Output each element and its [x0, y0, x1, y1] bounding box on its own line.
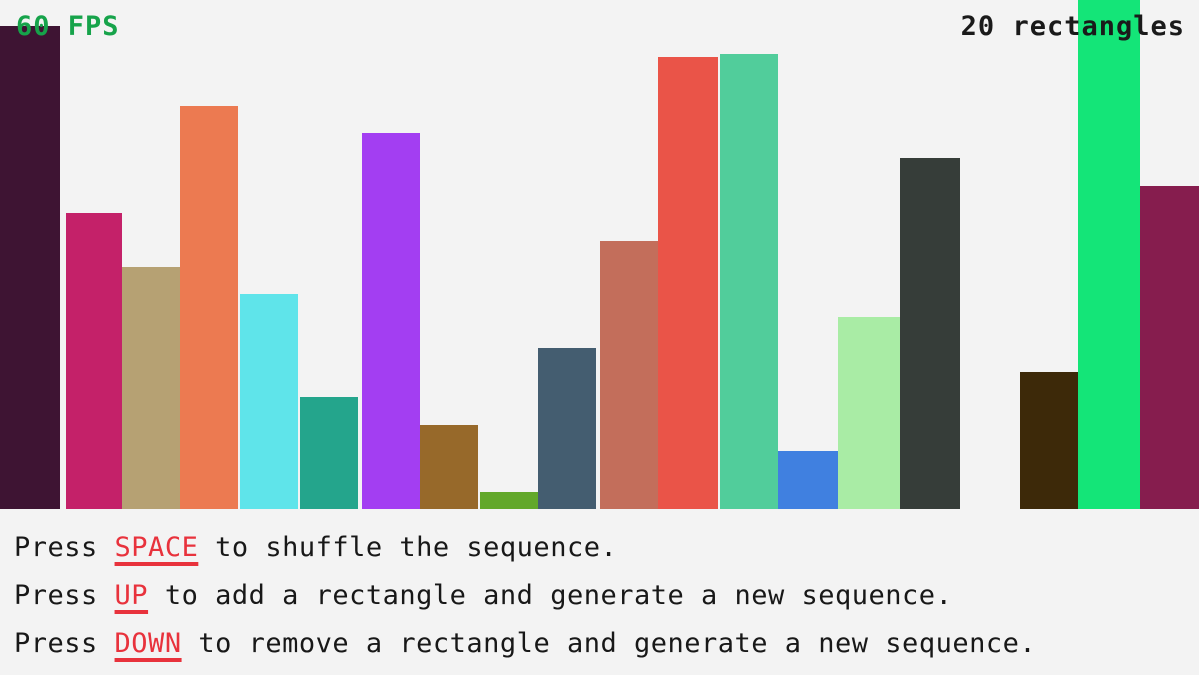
bar-rectangle: [1078, 0, 1140, 509]
key-hint-up[interactable]: UP: [115, 580, 149, 611]
bar-chart: [0, 0, 1199, 509]
bar-rectangle: [180, 106, 238, 509]
bar-rectangle: [420, 425, 478, 509]
instruction-suffix: to remove a rectangle and generate a new…: [182, 628, 1037, 659]
instruction-line: Press SPACE to shuffle the sequence.: [14, 524, 1199, 572]
bar-rectangle: [778, 451, 838, 509]
bar-rectangle: [900, 158, 960, 509]
instructions-panel: Press SPACE to shuffle the sequence.Pres…: [14, 524, 1199, 668]
instruction-prefix: Press: [14, 628, 115, 659]
bar-rectangle: [1140, 186, 1199, 509]
rectangle-count-label: 20 rectangles: [961, 13, 1185, 40]
instruction-prefix: Press: [14, 532, 115, 563]
instruction-line: Press DOWN to remove a rectangle and gen…: [14, 620, 1199, 668]
game-canvas: 60 FPS 20 rectangles Press SPACE to shuf…: [0, 0, 1199, 675]
instruction-suffix: to add a rectangle and generate a new se…: [148, 580, 952, 611]
bar-rectangle: [538, 348, 596, 509]
bar-rectangle: [600, 241, 658, 509]
key-hint-down[interactable]: DOWN: [115, 628, 182, 659]
bar-rectangle: [1020, 372, 1078, 509]
bar-rectangle: [362, 133, 420, 509]
instruction-prefix: Press: [14, 580, 115, 611]
bar-rectangle: [66, 213, 122, 509]
instruction-line: Press UP to add a rectangle and generate…: [14, 572, 1199, 620]
bar-rectangle: [240, 294, 298, 509]
bar-rectangle: [838, 317, 900, 509]
instruction-suffix: to shuffle the sequence.: [198, 532, 617, 563]
bar-rectangle: [720, 54, 778, 509]
bar-rectangle: [480, 492, 538, 509]
bar-rectangle: [300, 397, 358, 509]
bar-rectangle: [0, 26, 60, 509]
bar-rectangle: [658, 57, 718, 509]
fps-counter: 60 FPS: [16, 13, 120, 40]
key-hint-space[interactable]: SPACE: [115, 532, 199, 563]
bar-rectangle: [122, 267, 180, 509]
